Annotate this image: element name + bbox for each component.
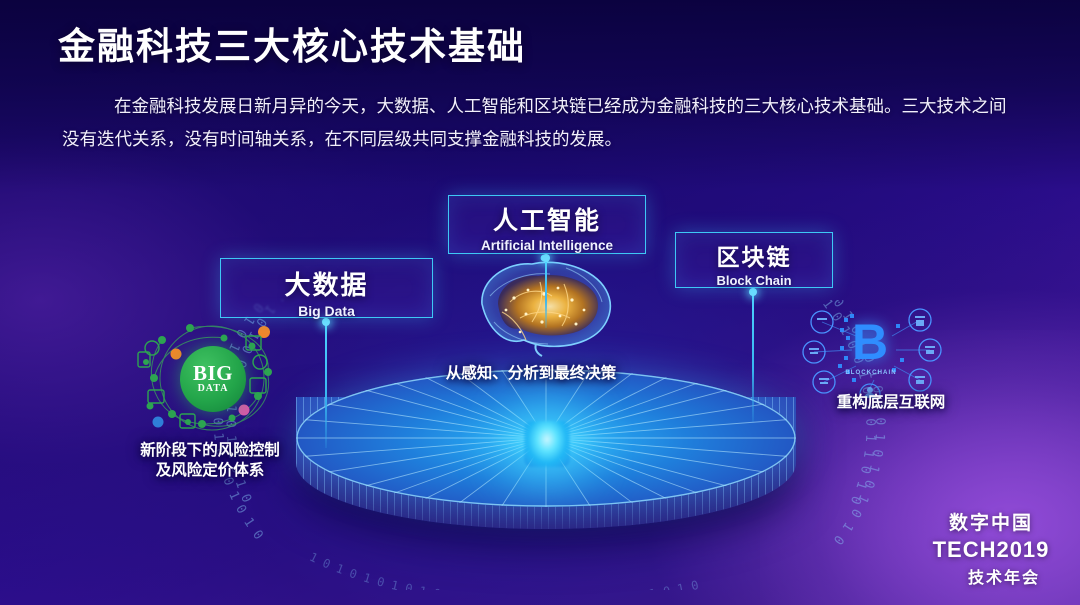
svg-text:1 0 1 0 1 0 1 0 1 0 1 0 1 0 1: 1 0 1 0 1 0 1 0 1 0 1 0 1 0 1 0 1 0 1 0 … — [307, 550, 700, 590]
label-box-big-data[interactable]: 大数据 Big Data — [220, 258, 433, 318]
label-big-data-en: Big Data — [221, 303, 432, 319]
page-title: 金融科技三大核心技术基础 — [58, 16, 526, 70]
label-ai-cn: 人工智能 — [449, 201, 645, 237]
caption-big-data-line1: 新阶段下的风险控制 — [104, 441, 316, 461]
blockchain-core-letter: B — [852, 316, 888, 368]
intro-paragraph: 在金融科技发展日新月异的今天，大数据、人工智能和区块链已经成为金融科技的三大核心… — [62, 90, 1022, 156]
event-logo-line1: 数字中国 — [916, 508, 1066, 535]
event-logo-line2: TECH2019 — [916, 537, 1066, 563]
label-box-ai[interactable]: 人工智能 Artificial Intelligence — [448, 195, 646, 254]
event-logo: 数字中国 TECH2019 技术年会 — [916, 508, 1066, 594]
big-data-network-icon: BIG DATA — [132, 318, 292, 440]
connector-ai — [545, 258, 547, 328]
caption-big-data-line2: 及风险定价体系 — [104, 461, 316, 481]
label-big-data-cn: 大数据 — [221, 265, 432, 302]
label-blockchain-cn: 区块链 — [676, 238, 832, 272]
label-blockchain-en: Block Chain — [676, 273, 832, 288]
disc-top-surface — [296, 369, 796, 507]
big-data-core-bottom-label: DATA — [198, 383, 229, 394]
big-data-core-badge: BIG DATA — [180, 346, 246, 412]
blockchain-b-icon: B BLOCKCHAIN — [796, 306, 946, 402]
blockchain-core-badge: B BLOCKCHAIN — [840, 314, 902, 380]
event-logo-line3: 技术年会 — [942, 564, 1066, 588]
platform-disc — [296, 369, 796, 554]
label-ai-en: Artificial Intelligence — [449, 238, 645, 253]
caption-big-data: 新阶段下的风险控制 及风险定价体系 — [104, 441, 316, 481]
blockchain-core-label: BLOCKCHAIN — [836, 370, 906, 376]
caption-blockchain: 重构底层互联网 — [794, 393, 988, 413]
caption-ai: 从感知、分析到最终决策 — [425, 364, 637, 384]
connector-knob-icon — [749, 288, 757, 296]
connector-blockchain — [752, 292, 754, 422]
connector-big-data — [325, 322, 327, 448]
brain-inner-core — [498, 275, 598, 336]
connector-knob-icon — [322, 318, 330, 326]
label-box-blockchain[interactable]: 区块链 Block Chain — [675, 232, 833, 288]
connector-knob-icon — [542, 254, 550, 262]
slide-canvas: 1 0 1 0 1 0 1 0 1 0 1 0 1 0 1 0 1 0 1 0 … — [0, 0, 1080, 605]
disc-center-glow — [524, 421, 570, 467]
big-data-core-top-label: BIG — [193, 364, 233, 383]
